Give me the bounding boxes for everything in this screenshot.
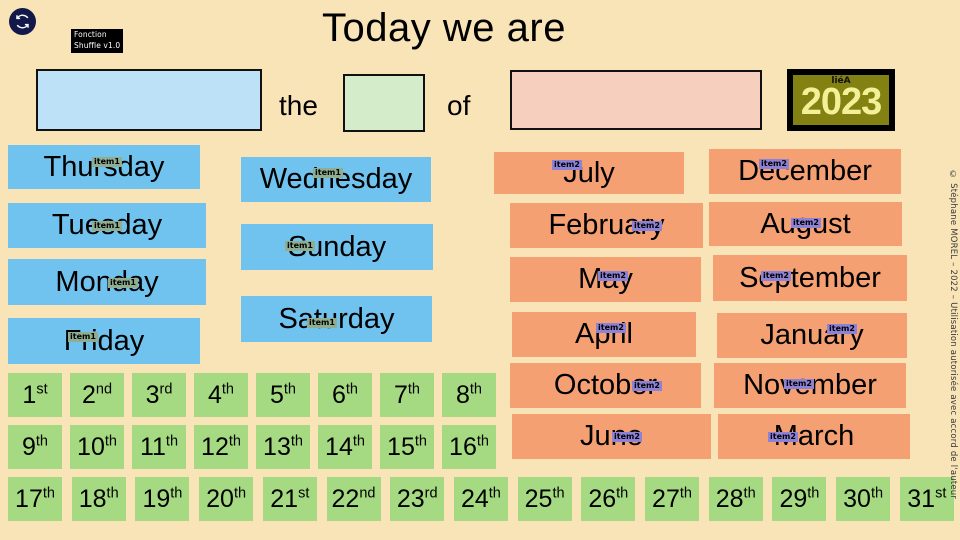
date-number: 24th bbox=[461, 485, 501, 514]
date-number: 22nd bbox=[332, 485, 376, 514]
month-card-november-label: November bbox=[743, 369, 877, 402]
month-card-december-label: December bbox=[738, 155, 872, 188]
month-card-october[interactable]: Octoberitem2 bbox=[510, 363, 701, 408]
day-card-wednesday-label: Wednesday bbox=[260, 163, 413, 196]
month-card-february-label: February bbox=[548, 209, 664, 242]
slide-canvas: Fonction Shuffle v1.0 Today we are the o… bbox=[0, 0, 960, 540]
day-card-sunday[interactable]: Sundayitem1 bbox=[241, 224, 433, 270]
month-card-november[interactable]: Novemberitem2 bbox=[714, 363, 906, 408]
month-card-october-label: October bbox=[554, 369, 657, 402]
date-ordinal-suffix: th bbox=[552, 485, 564, 501]
date-number: 20th bbox=[206, 485, 246, 514]
month-card-january-label: January bbox=[760, 319, 863, 352]
date-number: 21st bbox=[270, 485, 309, 514]
date-number: 27th bbox=[652, 485, 692, 514]
date-cell-14[interactable]: 14th bbox=[318, 425, 372, 469]
date-number: 4th bbox=[208, 381, 234, 410]
day-card-monday[interactable]: Mondayitem1 bbox=[8, 259, 206, 305]
date-ordinal-suffix: nd bbox=[96, 381, 112, 397]
date-cell-12[interactable]: 12th bbox=[194, 425, 248, 469]
date-cell-15[interactable]: 15th bbox=[380, 425, 434, 469]
date-number: 29th bbox=[779, 485, 819, 514]
date-number: 11th bbox=[140, 433, 178, 462]
date-number: 7th bbox=[394, 381, 420, 410]
date-number: 13th bbox=[263, 433, 303, 462]
date-number: 31st bbox=[907, 485, 946, 514]
date-number: 3rd bbox=[146, 381, 173, 410]
date-number: 16th bbox=[449, 433, 489, 462]
date-number: 12th bbox=[201, 433, 241, 462]
month-drop-slot[interactable] bbox=[510, 70, 762, 130]
date-ordinal-suffix: th bbox=[353, 433, 365, 449]
date-number: 18th bbox=[79, 485, 119, 514]
day-card-tuesday[interactable]: Tuesdayitem1 bbox=[8, 203, 206, 248]
date-number: 2nd bbox=[82, 381, 112, 410]
day-card-sunday-label: Sunday bbox=[288, 231, 386, 264]
month-card-january[interactable]: Januaryitem2 bbox=[717, 313, 907, 358]
date-ordinal-suffix: th bbox=[470, 381, 482, 397]
month-card-april-label: April bbox=[575, 318, 633, 351]
date-number: 5th bbox=[270, 381, 296, 410]
date-ordinal-suffix: th bbox=[166, 433, 178, 449]
date-cell-19[interactable]: 19th bbox=[135, 477, 189, 521]
date-cell-23[interactable]: 23rd bbox=[390, 477, 444, 521]
date-ordinal-suffix: th bbox=[170, 485, 182, 501]
month-card-september[interactable]: Septemberitem2 bbox=[713, 255, 907, 301]
date-number: 23rd bbox=[397, 485, 438, 514]
year-value: 2023 bbox=[793, 81, 889, 124]
date-cell-8[interactable]: 8th bbox=[442, 373, 496, 417]
month-card-december[interactable]: Decemberitem2 bbox=[709, 149, 901, 194]
date-cell-13[interactable]: 13th bbox=[256, 425, 310, 469]
month-card-june-label: June bbox=[580, 420, 643, 453]
date-ordinal-suffix: th bbox=[229, 433, 241, 449]
date-cell-24[interactable]: 24th bbox=[454, 477, 508, 521]
date-cell-7[interactable]: 7th bbox=[380, 373, 434, 417]
joiner-the-label: the bbox=[279, 90, 318, 122]
day-card-thursday[interactable]: Thursdayitem1 bbox=[8, 145, 200, 189]
date-ordinal-suffix: th bbox=[284, 381, 296, 397]
month-card-march[interactable]: Marchitem2 bbox=[718, 414, 910, 459]
date-ordinal-suffix: th bbox=[36, 433, 48, 449]
date-ordinal-suffix: th bbox=[346, 381, 358, 397]
date-ordinal-suffix: th bbox=[489, 485, 501, 501]
day-drop-slot[interactable] bbox=[36, 69, 262, 131]
date-ordinal-suffix: th bbox=[415, 433, 427, 449]
date-cell-16[interactable]: 16th bbox=[442, 425, 496, 469]
day-card-wednesday[interactable]: Wednesdayitem1 bbox=[241, 157, 431, 202]
date-number: 14th bbox=[325, 433, 365, 462]
copyright-notice: © Stéphane MOREL – 2022 – Utilisation au… bbox=[948, 170, 958, 499]
date-cell-30[interactable]: 30th bbox=[836, 477, 890, 521]
date-ordinal-suffix: st bbox=[298, 485, 309, 501]
date-ordinal-suffix: nd bbox=[359, 485, 375, 501]
date-number: 30th bbox=[843, 485, 883, 514]
day-card-tuesday-label: Tuesday bbox=[52, 209, 162, 242]
date-ordinal-suffix: th bbox=[744, 485, 756, 501]
date-number: 8th bbox=[456, 381, 482, 410]
month-card-september-label: September bbox=[739, 262, 881, 295]
date-ordinal-suffix: th bbox=[871, 485, 883, 501]
date-ordinal-suffix: th bbox=[807, 485, 819, 501]
month-card-june[interactable]: Juneitem2 bbox=[512, 414, 711, 459]
date-cell-22[interactable]: 22nd bbox=[327, 477, 381, 521]
month-card-august[interactable]: Augustitem2 bbox=[709, 202, 902, 246]
date-ordinal-suffix: th bbox=[107, 485, 119, 501]
date-ordinal-suffix: th bbox=[234, 485, 246, 501]
date-drop-slot[interactable] bbox=[343, 74, 425, 132]
date-number: 19th bbox=[142, 485, 182, 514]
date-number: 10th bbox=[77, 433, 117, 462]
month-card-march-label: March bbox=[774, 420, 855, 453]
day-card-thursday-label: Thursday bbox=[44, 151, 165, 184]
month-card-may[interactable]: Mayitem2 bbox=[510, 257, 701, 302]
day-card-friday-label: Friday bbox=[64, 325, 145, 358]
date-cell-29[interactable]: 29th bbox=[772, 477, 826, 521]
month-card-may-label: May bbox=[578, 263, 633, 296]
month-card-july[interactable]: Julyitem2 bbox=[494, 152, 684, 194]
date-cell-3[interactable]: 3rd bbox=[132, 373, 186, 417]
date-ordinal-suffix: th bbox=[105, 433, 117, 449]
date-cell-10[interactable]: 10th bbox=[70, 425, 124, 469]
date-cell-28[interactable]: 28th bbox=[709, 477, 763, 521]
date-number: 1st bbox=[22, 381, 47, 410]
date-cell-2[interactable]: 2nd bbox=[70, 373, 124, 417]
date-ordinal-suffix: th bbox=[408, 381, 420, 397]
date-cell-20[interactable]: 20th bbox=[199, 477, 253, 521]
date-number: 15th bbox=[387, 433, 427, 462]
date-cell-25[interactable]: 25th bbox=[518, 477, 572, 521]
date-cell-21[interactable]: 21st bbox=[263, 477, 317, 521]
date-number: 17th bbox=[15, 485, 55, 514]
year-box[interactable]: liéA 2023 bbox=[787, 69, 895, 131]
day-card-saturday-label: Saturday bbox=[278, 303, 394, 336]
date-ordinal-suffix: st bbox=[935, 485, 946, 501]
date-ordinal-suffix: th bbox=[222, 381, 234, 397]
day-card-monday-label: Monday bbox=[55, 266, 158, 299]
month-card-august-label: August bbox=[760, 208, 850, 241]
date-number: 28th bbox=[716, 485, 756, 514]
date-cell-6[interactable]: 6th bbox=[318, 373, 372, 417]
month-card-april[interactable]: Aprilitem2 bbox=[512, 312, 696, 357]
date-number: 26th bbox=[588, 485, 628, 514]
day-card-saturday[interactable]: Saturdayitem1 bbox=[241, 296, 432, 342]
date-cell-18[interactable]: 18th bbox=[72, 477, 126, 521]
date-ordinal-suffix: th bbox=[680, 485, 692, 501]
month-card-february[interactable]: Februaryitem2 bbox=[510, 203, 703, 248]
date-number: 6th bbox=[332, 381, 358, 410]
date-cell-31[interactable]: 31st bbox=[900, 477, 954, 521]
date-cell-4[interactable]: 4th bbox=[194, 373, 248, 417]
date-cell-27[interactable]: 27th bbox=[645, 477, 699, 521]
date-ordinal-suffix: th bbox=[43, 485, 55, 501]
date-ordinal-suffix: rd bbox=[425, 485, 438, 501]
date-ordinal-suffix: th bbox=[477, 433, 489, 449]
date-cell-5[interactable]: 5th bbox=[256, 373, 310, 417]
date-number: 9th bbox=[22, 433, 48, 462]
month-card-july-label: July bbox=[563, 157, 615, 190]
date-cell-1[interactable]: 1st bbox=[8, 373, 62, 417]
date-number: 25th bbox=[525, 485, 565, 514]
date-cell-26[interactable]: 26th bbox=[581, 477, 635, 521]
date-cell-9[interactable]: 9th bbox=[8, 425, 62, 469]
date-cell-11[interactable]: 11th bbox=[132, 425, 186, 469]
date-ordinal-suffix: st bbox=[36, 381, 47, 397]
date-ordinal-suffix: th bbox=[616, 485, 628, 501]
date-ordinal-suffix: rd bbox=[160, 381, 173, 397]
joiner-of-label: of bbox=[447, 90, 470, 122]
page-title: Today we are bbox=[0, 6, 888, 51]
date-ordinal-suffix: th bbox=[291, 433, 303, 449]
date-cell-17[interactable]: 17th bbox=[8, 477, 62, 521]
day-card-friday[interactable]: Fridayitem1 bbox=[8, 318, 200, 364]
